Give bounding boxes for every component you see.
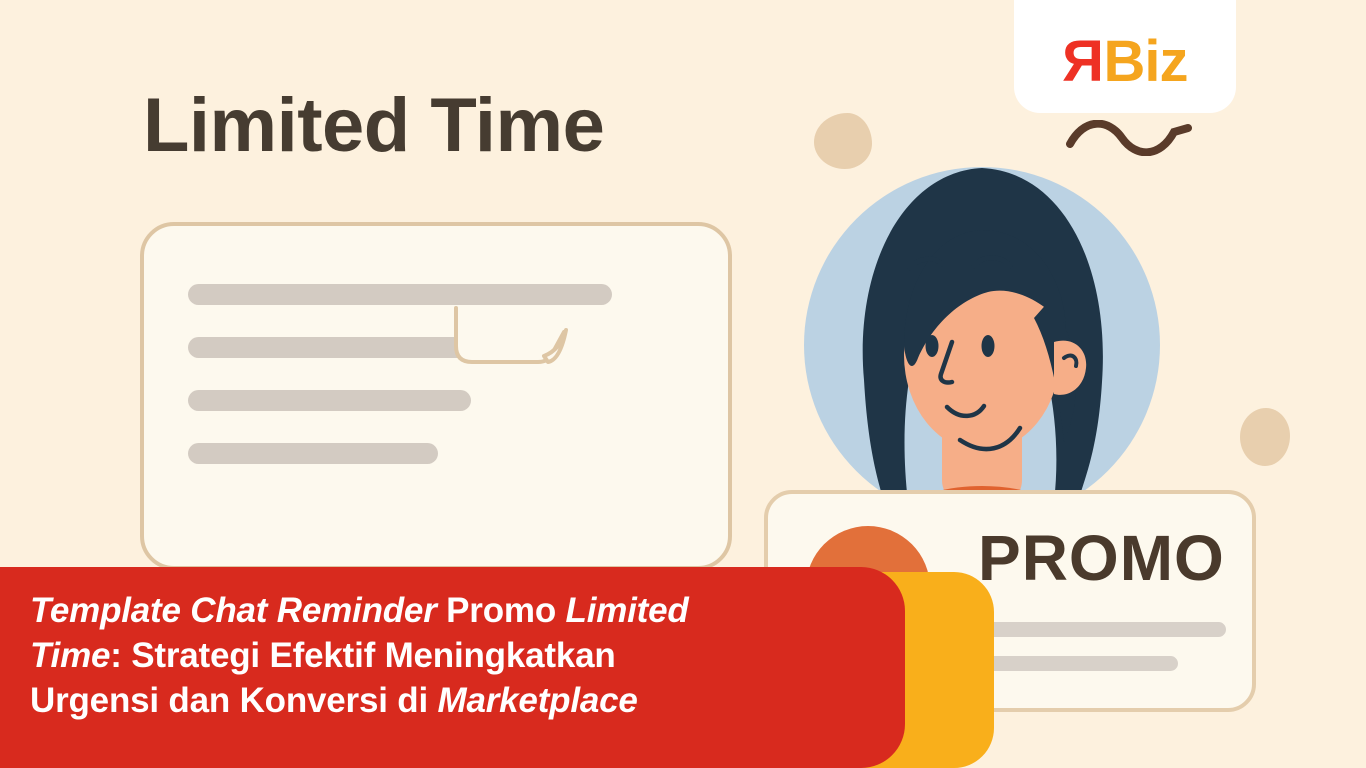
banner-line-3: Urgensi dan Konversi di Marketplace [30, 679, 865, 724]
promo-line-2 [978, 656, 1178, 671]
brand-logo-text: RBiz [1063, 33, 1188, 91]
banner-line-3-part-1: Urgensi dan Konversi di [30, 681, 438, 720]
logo-letter-r: R [1063, 33, 1104, 91]
brand-logo-card[interactable]: RBiz [1014, 0, 1236, 113]
banner-line-1-part-2: Promo [437, 591, 566, 630]
message-line-1 [188, 284, 612, 305]
chat-bubble-tail-icon [452, 306, 572, 368]
banner-line-1: Template Chat Reminder Promo Limited [30, 589, 865, 634]
character-eye-left [926, 335, 939, 357]
character-eye-right [982, 335, 995, 357]
page-title: Limited Time [143, 88, 604, 164]
banner-line-1-part-1: Template Chat Reminder [30, 591, 437, 630]
banner-line-2-part-1: Time [30, 636, 110, 675]
message-line-3 [188, 390, 471, 411]
chat-bubble [140, 222, 732, 570]
promo-line-1 [978, 622, 1226, 637]
banner-line-2: Time: Strategi Efektif Meningkatkan [30, 634, 865, 679]
promo-card-title: PROMO [978, 526, 1225, 590]
banner-line-3-part-2: Marketplace [438, 681, 638, 720]
chat-bubble-placeholder-lines [188, 284, 692, 464]
banner-line-1-part-3: Limited [566, 591, 689, 630]
squiggle-icon [1064, 120, 1194, 156]
promo-banner-canvas: Limited Time [0, 0, 1366, 768]
message-line-4 [188, 443, 438, 464]
banner-title: Template Chat Reminder Promo Limited Tim… [30, 589, 865, 723]
logo-letters-biz: Biz [1103, 29, 1187, 94]
decorative-blob-right [1240, 408, 1290, 466]
banner: Template Chat Reminder Promo Limited Tim… [0, 567, 905, 768]
banner-line-2-part-2: : Strategi Efektif Meningkatkan [110, 636, 615, 675]
